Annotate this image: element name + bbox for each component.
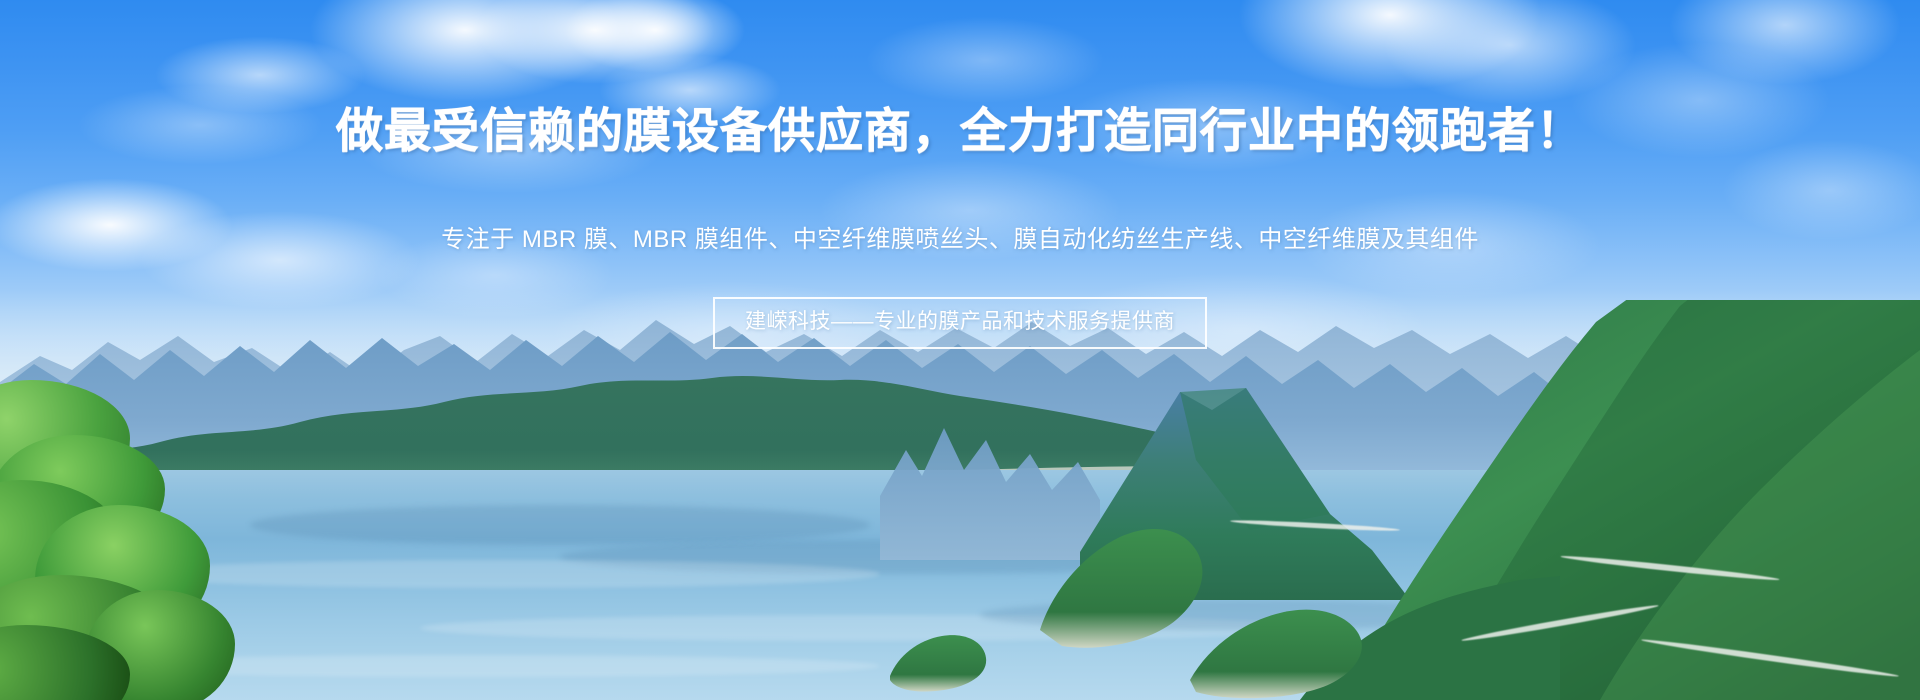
banner-tagline-wrap: 建嵘科技——专业的膜产品和技术服务提供商	[0, 297, 1920, 349]
hero-banner: 做最受信赖的膜设备供应商，全力打造同行业中的领跑者！ 专注于 MBR 膜、MBR…	[0, 0, 1920, 700]
banner-subheadline: 专注于 MBR 膜、MBR 膜组件、中空纤维膜喷丝头、膜自动化纺丝生产线、中空纤…	[0, 223, 1920, 257]
banner-tagline: 建嵘科技——专业的膜产品和技术服务提供商	[713, 297, 1207, 349]
banner-headline: 做最受信赖的膜设备供应商，全力打造同行业中的领跑者！	[0, 100, 1920, 162]
foreground-foliage	[0, 360, 310, 700]
